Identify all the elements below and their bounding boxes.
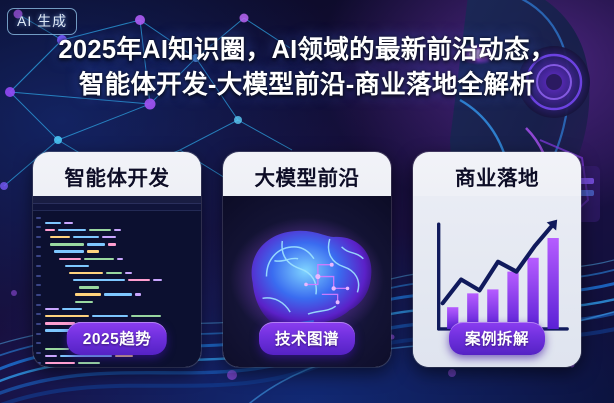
page-title: 2025年AI知识圈，AI领域的最新前沿动态， 智能体开发-大模型前沿-商业落地… [0,33,614,103]
chart-bar [527,258,538,329]
chart-bar [507,272,518,329]
card-row: 智能体开发 [0,152,614,367]
card-large-model-frontier[interactable]: 大模型前沿 [223,152,391,367]
title-line-2: 智能体开发-大模型前沿-商业落地全解析 [14,68,600,103]
title-line-1: 2025年AI知识圈，AI领域的最新前沿动态， [14,33,600,68]
chart-bar [547,238,558,329]
card-agent-development[interactable]: 智能体开发 [33,152,201,367]
card-button-tech-map[interactable]: 技术图谱 [259,322,355,355]
card-button-trend-2025[interactable]: 2025趋势 [67,322,167,355]
ai-generated-badge-label: AI 生成 [17,13,67,29]
card-title: 商业落地 [455,161,539,191]
ai-generated-badge: AI 生成 [7,8,77,35]
card-business-landing[interactable]: 商业落地 [413,152,581,367]
card-title: 智能体开发 [65,161,170,191]
card-title: 大模型前沿 [255,161,360,191]
card-button-case-study[interactable]: 案例拆解 [449,322,545,355]
poster-canvas: AI 生成 2025年AI知识圈，AI领域的最新前沿动态， 智能体开发-大模型前… [0,0,614,403]
